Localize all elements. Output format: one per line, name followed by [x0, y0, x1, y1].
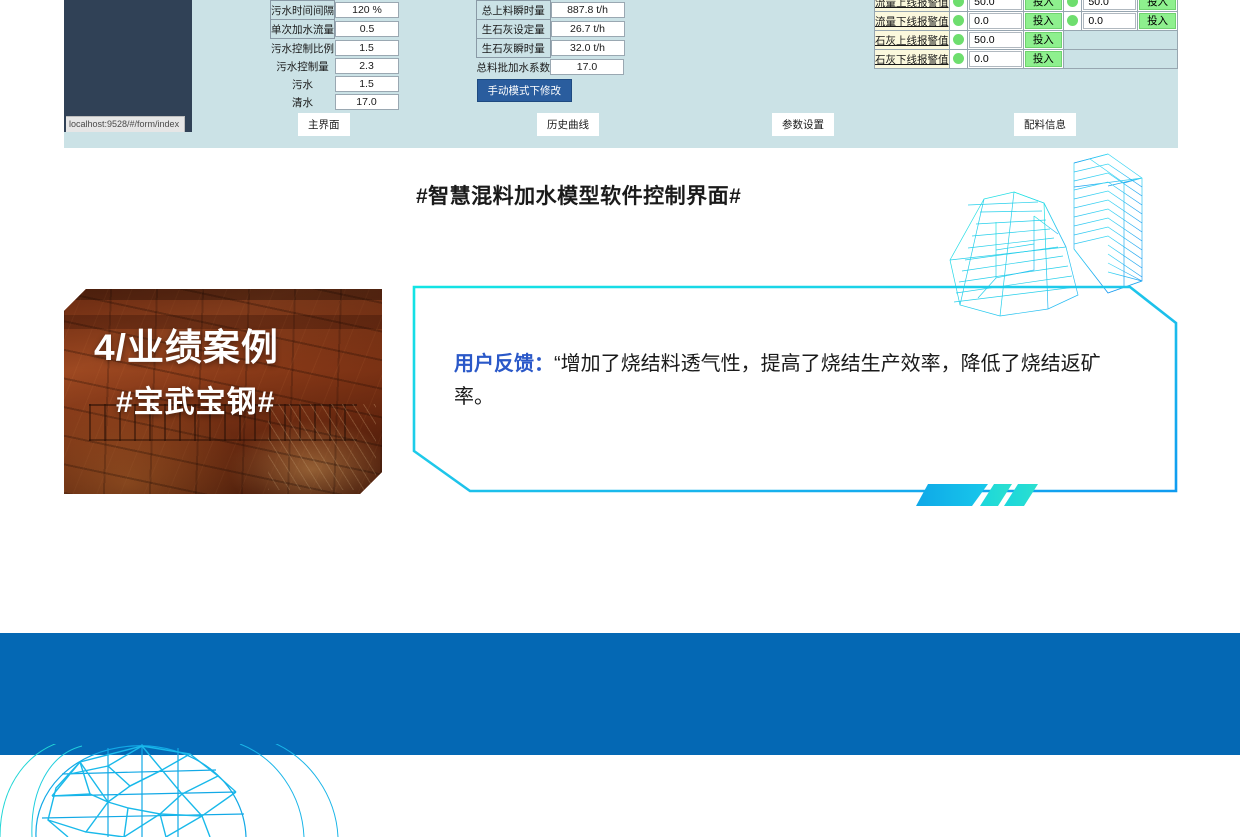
- table-row: 污水 1.5: [271, 75, 400, 93]
- table-row: 生石灰设定量 26.7 t/h: [477, 20, 625, 39]
- status-lamp-icon: [953, 15, 964, 26]
- alarm-apply-cell-2: 投入: [1138, 0, 1178, 12]
- alarm-apply-cell-2: 投入: [1138, 12, 1178, 31]
- param-value[interactable]: 2.3: [335, 58, 399, 74]
- alarm-input-cell: 0.0: [968, 12, 1024, 31]
- param-value-cell: 32.0 t/h: [550, 39, 625, 58]
- wireframe-globe-decoration: [0, 744, 370, 837]
- param-value[interactable]: 0.5: [335, 21, 399, 37]
- status-lamp-cell: [949, 50, 968, 69]
- quote-text-block: 用户反馈：“增加了烧结料透气性，提高了烧结生产效率，降低了烧结返矿率。: [454, 348, 1124, 414]
- status-lamp-icon: [953, 0, 964, 7]
- app-sidebar: [64, 0, 192, 132]
- alarm-value-input[interactable]: 0.0: [969, 51, 1022, 67]
- table-row: 生石灰瞬时量 32.0 t/h: [477, 39, 625, 58]
- table-row: 污水控制比例 1.5: [271, 39, 400, 58]
- status-lamp-icon: [1067, 15, 1078, 26]
- alarm-apply-cell: 投入: [1023, 50, 1063, 69]
- param-label: 生石灰设定量: [477, 20, 551, 39]
- table-row: 总上料瞬时量 887.8 t/h: [477, 1, 625, 20]
- status-lamp-cell-2: [1063, 0, 1082, 12]
- param-value[interactable]: 32.0 t/h: [551, 40, 625, 56]
- param-value-cell: 887.8 t/h: [550, 1, 625, 20]
- table-row: 手动模式下修改: [477, 76, 625, 102]
- quote-label: 用户反馈：: [454, 353, 554, 375]
- table-row: 石灰下线报警值 0.0 投入: [875, 50, 1178, 69]
- table-row: 污水控制量 2.3: [271, 57, 400, 75]
- left-parameter-table: 污水时间间隔 120 % 单次加水流量 0.5 污水控制比例 1.5 污水控制量…: [270, 0, 400, 111]
- status-lamp-cell-2: [1063, 12, 1082, 31]
- alarm-label: 石灰下线报警值: [875, 50, 950, 69]
- param-label: 污水控制量: [271, 57, 335, 75]
- alarm-apply-cell: 投入: [1023, 12, 1063, 31]
- alarm-input-cell: 0.0: [968, 50, 1024, 69]
- param-value-cell: 120 %: [335, 1, 400, 20]
- middle-parameter-table: 总上料瞬时量 887.8 t/h 生石灰设定量 26.7 t/h 生石灰瞬时量 …: [476, 0, 625, 102]
- alarm-input-cell: 50.0: [968, 31, 1024, 50]
- page-title: #智慧混料加水模型软件控制界面#: [416, 180, 741, 210]
- table-row: 污水时间间隔 120 %: [271, 1, 400, 20]
- table-row: 单次加水流量 0.5: [271, 20, 400, 39]
- alarm-value-input[interactable]: 50.0: [969, 0, 1022, 10]
- param-value[interactable]: 1.5: [335, 40, 399, 56]
- table-row: 流量下线报警值 0.0 投入 0.0 投入: [875, 12, 1178, 31]
- param-value-cell: 0.5: [335, 20, 400, 39]
- alarm-apply-button[interactable]: 投入: [1025, 51, 1062, 67]
- alarm-apply-button[interactable]: 投入: [1025, 13, 1062, 29]
- param-value-cell: 17.0: [550, 58, 625, 77]
- alarm-apply-cell: 投入: [1023, 0, 1063, 12]
- param-value-cell: 26.7 t/h: [550, 20, 625, 39]
- nav-button-batching-info[interactable]: 配料信息: [1014, 113, 1076, 136]
- alarm-label: 流量下线报警值: [875, 12, 950, 31]
- case-study-image-card: 4/业绩案例 #宝武宝钢#: [64, 289, 382, 494]
- alarm-value-input[interactable]: 50.0: [1083, 0, 1136, 10]
- param-value[interactable]: 26.7 t/h: [551, 21, 625, 37]
- alarm-value-input[interactable]: 0.0: [969, 13, 1022, 29]
- param-value[interactable]: 17.0: [335, 94, 399, 110]
- param-value[interactable]: 120 %: [335, 2, 399, 18]
- param-label: 污水控制比例: [271, 39, 335, 58]
- status-lamp-icon: [953, 34, 964, 45]
- case-title-sub: #宝武宝钢#: [116, 377, 275, 421]
- param-label: 生石灰瞬时量: [477, 39, 551, 58]
- param-label: 单次加水流量: [271, 20, 335, 39]
- table-row: 总料批加水系数 17.0: [477, 58, 625, 77]
- software-screenshot-panel: 污水时间间隔 120 % 单次加水流量 0.5 污水控制比例 1.5 污水控制量…: [64, 0, 1178, 148]
- alarm-settings-table: 流量上线报警值 50.0 投入 50.0 投入 流量下线报警值 0.0 投入 0…: [874, 0, 1178, 69]
- status-lamp-cell: [949, 12, 968, 31]
- alarm-apply-button[interactable]: 投入: [1025, 0, 1062, 10]
- param-label: 总上料瞬时量: [477, 1, 551, 20]
- nav-button-main-screen[interactable]: 主界面: [298, 113, 350, 136]
- arrow-stripes-decoration: [916, 482, 1096, 508]
- alarm-value-input[interactable]: 0.0: [1083, 13, 1136, 29]
- alarm-apply-cell: 投入: [1023, 31, 1063, 50]
- alarm-value-input[interactable]: 50.0: [969, 32, 1022, 48]
- param-value[interactable]: 1.5: [335, 76, 399, 92]
- param-value-cell: 1.5: [335, 39, 400, 58]
- table-row: 石灰上线报警值 50.0 投入: [875, 31, 1178, 50]
- param-label: 清水: [271, 93, 335, 111]
- alarm-label: 石灰上线报警值: [875, 31, 950, 50]
- param-value[interactable]: 887.8 t/h: [551, 2, 625, 18]
- manual-button-cell: 手动模式下修改: [477, 76, 625, 102]
- param-value-cell: 1.5: [335, 75, 400, 93]
- case-title-main: 4/业绩案例: [94, 317, 279, 371]
- param-value-cell: 17.0: [335, 93, 400, 111]
- table-row: 流量上线报警值 50.0 投入 50.0 投入: [875, 0, 1178, 12]
- alarm-apply-button[interactable]: 投入: [1139, 0, 1176, 10]
- param-value[interactable]: 17.0: [550, 59, 624, 75]
- alarm-label: 流量上线报警值: [875, 0, 950, 12]
- nav-button-parameter-settings[interactable]: 参数设置: [772, 113, 834, 136]
- param-label: 总料批加水系数: [477, 58, 551, 77]
- status-lamp-icon: [1067, 0, 1078, 7]
- alarm-apply-button[interactable]: 投入: [1025, 32, 1062, 48]
- alarm-apply-button[interactable]: 投入: [1139, 13, 1176, 29]
- alarm-empty-cell: [1063, 50, 1177, 69]
- alarm-empty-cell: [1063, 31, 1177, 50]
- status-lamp-cell: [949, 0, 968, 12]
- browser-status-bar: localhost:9528/#/form/index: [66, 116, 185, 132]
- status-lamp-icon: [953, 53, 964, 64]
- bottom-blue-band: [0, 633, 1240, 755]
- alarm-input-cell: 50.0: [968, 0, 1024, 12]
- quote-callout-box: 用户反馈：“增加了烧结料透气性，提高了烧结生产效率，降低了烧结返矿率。: [412, 285, 1178, 494]
- status-lamp-cell: [949, 31, 968, 50]
- param-value-cell: 2.3: [335, 57, 400, 75]
- alarm-input-cell-2: 50.0: [1082, 0, 1138, 12]
- nav-button-history-curve[interactable]: 历史曲线: [537, 113, 599, 136]
- param-label: 污水时间间隔: [271, 1, 335, 20]
- table-row: 清水 17.0: [271, 93, 400, 111]
- param-label: 污水: [271, 75, 335, 93]
- alarm-input-cell-2: 0.0: [1082, 12, 1138, 31]
- manual-mode-edit-button[interactable]: 手动模式下修改: [477, 79, 573, 102]
